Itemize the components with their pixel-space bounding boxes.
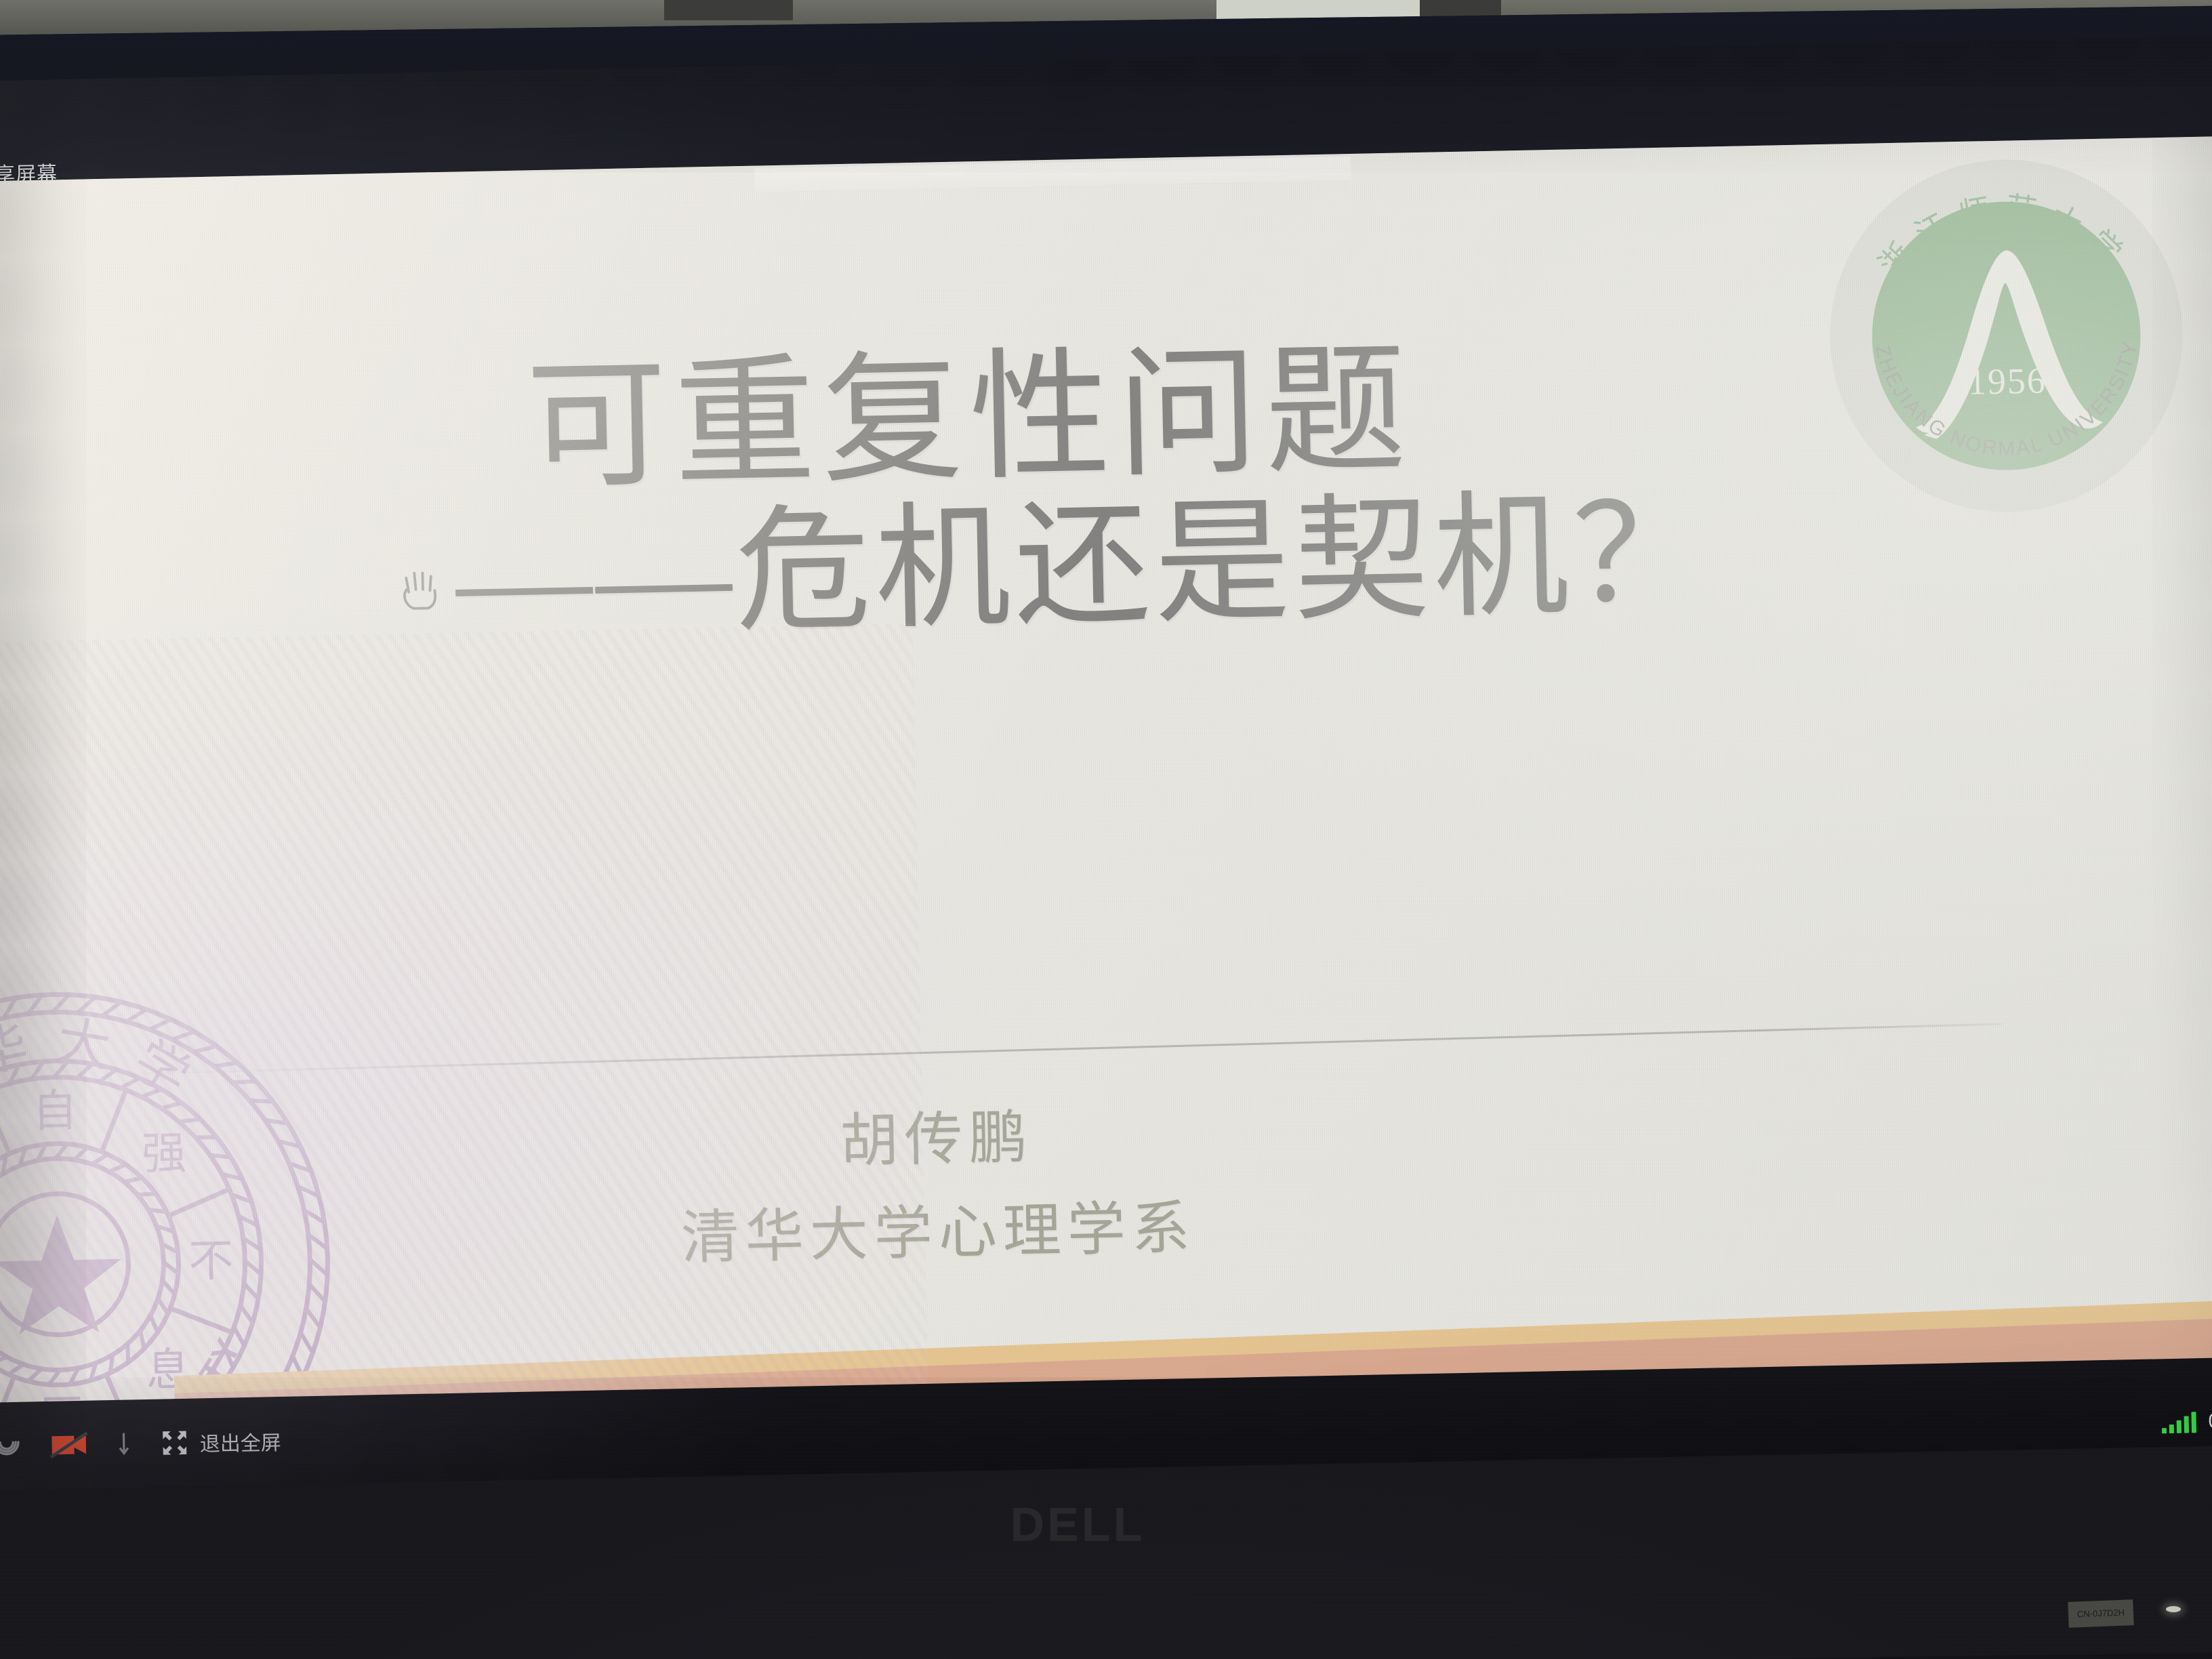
signal-bars-icon <box>2161 1411 2196 1433</box>
bezel-label-sticker: CN-0J7D2H <box>2068 1599 2133 1628</box>
video-muted-icon[interactable] <box>49 1430 89 1460</box>
svg-text:强: 强 <box>141 1129 186 1179</box>
elapsed-time-label: 02:56 <box>2208 1410 2212 1433</box>
wall-detail <box>664 0 793 20</box>
shared-slide: 1956 浙江师范大学 ZHEJIANG NORMAL UNIV <box>0 136 2212 1456</box>
meeting-status-cluster: 02:56 <box>2161 1410 2212 1433</box>
photo-scene: 正在分享屏幕 1956 <box>0 0 2212 1659</box>
svg-text:自: 自 <box>32 1086 77 1136</box>
dell-brand-logo: DELL <box>996 1494 1159 1554</box>
exit-fullscreen-label[interactable]: 退出全屏 <box>199 1426 281 1457</box>
audio-button[interactable] <box>0 1431 22 1462</box>
upload-arrow-icon[interactable] <box>115 1430 132 1457</box>
monitor-screen: 正在分享屏幕 1956 <box>0 35 2212 1491</box>
power-led-indicator <box>2166 1606 2181 1612</box>
exit-fullscreen-icon[interactable] <box>159 1427 190 1459</box>
exit-fullscreen-button[interactable]: 退出全屏 <box>159 1425 281 1459</box>
grab-hand-cursor <box>396 558 445 613</box>
slide-title-block: 可重复性问题 ——危机还是契机？ <box>0 324 1984 665</box>
share-indicator-icon-slot[interactable] <box>115 1430 132 1457</box>
video-button[interactable] <box>49 1430 89 1460</box>
video-muted-icon <box>49 1430 89 1460</box>
microphone-icon[interactable] <box>0 1431 22 1462</box>
title-divider-rule <box>119 1023 2002 1075</box>
svg-text:不: 不 <box>188 1236 234 1286</box>
slide-content: 1956 浙江师范大学 ZHEJIANG NORMAL UNIV <box>0 136 2212 1456</box>
